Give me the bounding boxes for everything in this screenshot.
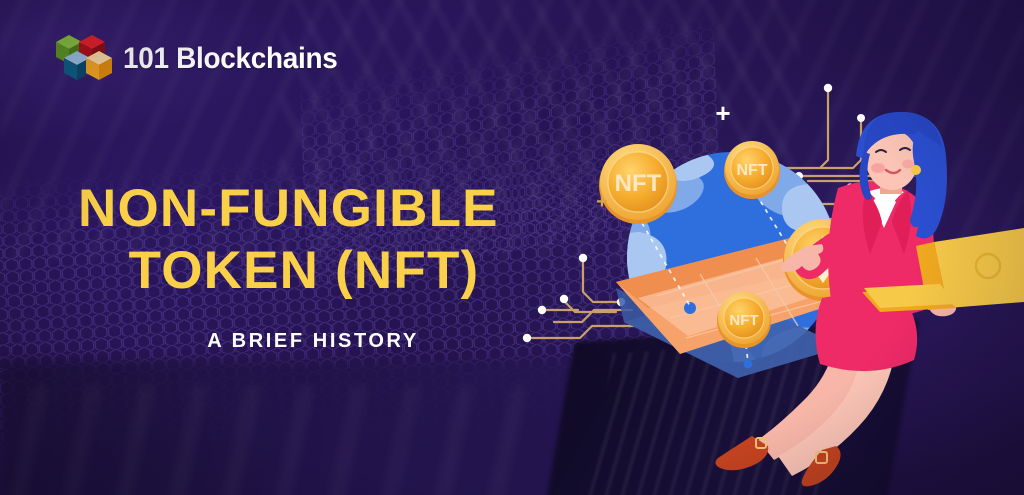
page-title: NON-FUNGIBLE TOKEN (NFT) [78,178,548,302]
nft-banner: 101 Blockchains NON-FUNGIBLE TOKEN (NFT)… [0,0,1024,495]
nft-coin-large: NFT [599,144,677,224]
plus-white-icon-2: + [878,191,892,218]
page-subtitle: A BRIEF HISTORY [78,330,566,353]
platform-node-1 [684,302,696,314]
nft-coin-small: NFT [724,141,780,199]
hero-illustration: NFT NFT NFT [520,60,1024,495]
nft-coin-mid-label: NFT [729,312,758,329]
four-cubes-logo-icon [52,30,114,87]
plus-gold-icon: + [596,191,608,213]
brand-name: 101 Blockchains [123,42,337,76]
background-heatsink-fins [0,385,540,495]
brand-logo[interactable]: 101 Blockchains [52,30,354,87]
circuit-nodes-left [523,254,625,342]
illustration-svg: NFT NFT NFT [520,60,1024,495]
plus-white-icon: + [715,98,730,128]
nft-coin-mid: NFT [717,292,771,348]
title-line-1: NON-FUNGIBLE [78,178,548,240]
nft-coin-small-label: NFT [736,162,767,179]
nft-coin-large-label: NFT [615,170,662,197]
platform-node-4 [744,360,753,369]
title-line-2: TOKEN (NFT) [78,240,548,302]
